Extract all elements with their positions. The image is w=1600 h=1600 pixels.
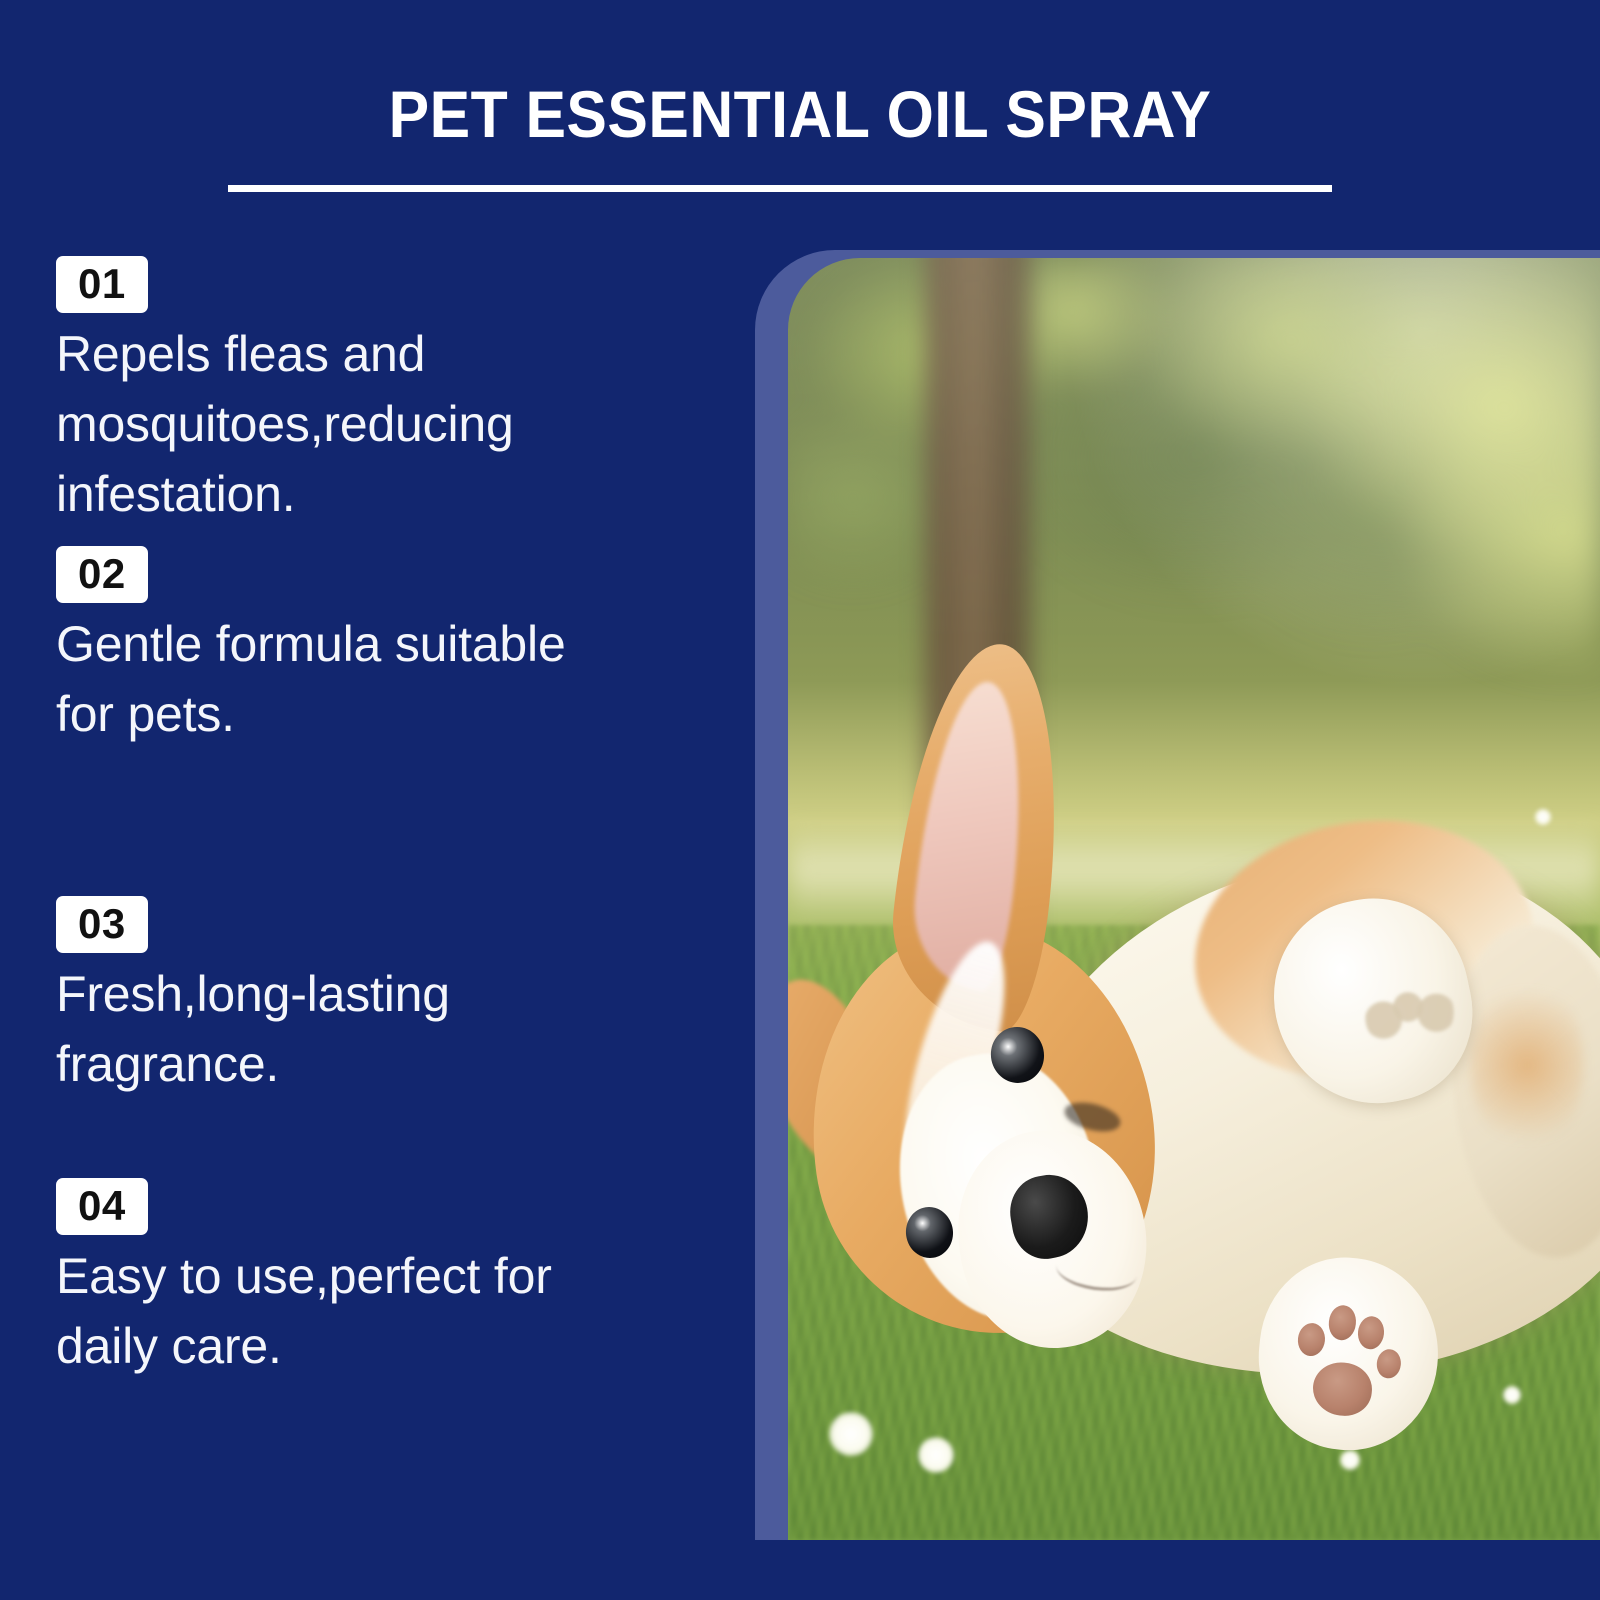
title-divider bbox=[228, 185, 1332, 192]
corgi-puppy bbox=[788, 258, 1600, 1540]
feature-number-badge: 03 bbox=[56, 896, 148, 953]
page-title: PET ESSENTIAL OIL SPRAY bbox=[64, 78, 1536, 150]
feature-number-badge: 01 bbox=[56, 256, 148, 313]
header: PET ESSENTIAL OIL SPRAY bbox=[0, 0, 1600, 235]
puppy-tan-patch bbox=[1470, 976, 1584, 1155]
feature-number-badge: 02 bbox=[56, 546, 148, 603]
feature-item-01: 01 Repels fleas and mosquitoes,reducing … bbox=[56, 256, 686, 529]
paw-pad-toe bbox=[1328, 1305, 1359, 1342]
feature-item-03: 03 Fresh,long-lasting fragrance. bbox=[56, 896, 686, 1099]
product-photo-panel bbox=[755, 250, 1600, 1540]
feature-list: 01 Repels fleas and mosquitoes,reducing … bbox=[0, 248, 700, 1588]
corgi-puppy-photo bbox=[788, 258, 1600, 1540]
paw-pad-toe bbox=[1376, 1348, 1403, 1380]
promo-card: PET ESSENTIAL OIL SPRAY 01 Repels fleas … bbox=[0, 0, 1600, 1600]
feature-description: Fresh,long-lasting fragrance. bbox=[56, 959, 686, 1099]
feature-item-04: 04 Easy to use,perfect for daily care. bbox=[56, 1178, 686, 1381]
feature-item-02: 02 Gentle formula suitable for pets. bbox=[56, 546, 686, 749]
feature-number-badge: 04 bbox=[56, 1178, 148, 1235]
paw-pad-toe bbox=[1356, 1315, 1385, 1351]
paw-pad-main bbox=[1311, 1360, 1375, 1420]
feature-description: Repels fleas and mosquitoes,reducing inf… bbox=[56, 319, 686, 529]
paw-pad-toe bbox=[1296, 1322, 1327, 1358]
feature-description: Easy to use,perfect for daily care. bbox=[56, 1241, 686, 1381]
feature-description: Gentle formula suitable for pets. bbox=[56, 609, 686, 749]
puppy-paw-pads bbox=[1285, 1291, 1411, 1430]
